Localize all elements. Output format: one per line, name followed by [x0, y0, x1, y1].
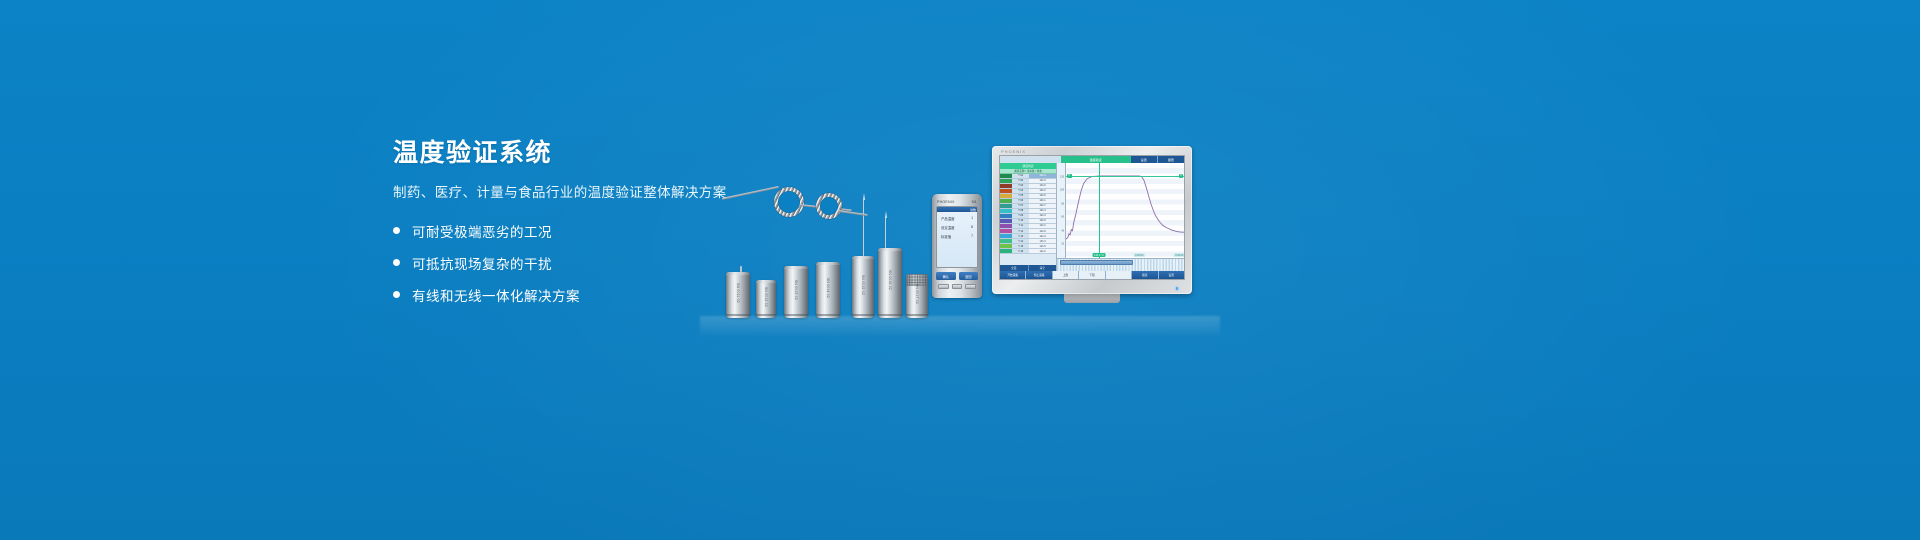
handheld-model: M1: [972, 200, 977, 204]
cursor-line[interactable]: [1099, 163, 1100, 258]
channel-value: 121.3: [1029, 179, 1056, 183]
channel-color-swatch: [1000, 234, 1012, 238]
channel-color-swatch: [1000, 194, 1012, 198]
channel-value: 121.3: [1029, 239, 1056, 243]
channel-color-swatch: [1000, 219, 1012, 223]
channel-row[interactable]: T 16121.2: [1000, 249, 1056, 254]
channel-rows[interactable]: T 01121.4T 02121.3T 03121.6T 04121.2T 05…: [1000, 174, 1056, 266]
handheld-screen-title: 读数: [970, 208, 976, 212]
lower-limit-button[interactable]: 下限: [1079, 271, 1105, 279]
channel-name: T 06: [1012, 199, 1029, 203]
tab-settings[interactable]: 设置: [1131, 156, 1157, 163]
data-logger: SN 0016 02: [878, 248, 902, 318]
handheld-softkeys: 确认 返回: [936, 272, 978, 280]
data-logger: SN 0017 02: [906, 274, 928, 318]
monitor-brand: PHOENIX: [1001, 149, 1026, 154]
time-marker-tag[interactable]: 0:25:00: [1133, 253, 1145, 257]
channel-name: T 03: [1012, 184, 1029, 188]
logger-label: SN 0017 02: [915, 284, 919, 304]
logger-label: SN 0015 02: [861, 275, 865, 295]
hero-banner: 温度验证系统 制药、医疗、计量与食品行业的温度验证整体解决方案 可耐受极端恶劣的…: [0, 0, 1920, 540]
handheld-reader[interactable]: PHOENIX M1 读数 产品温度 1 设定温度 8 标准值 7: [932, 194, 982, 298]
channel-name: T 07: [1012, 204, 1029, 208]
bullet-dot-icon: [393, 259, 400, 266]
reading-value: 8: [971, 225, 973, 230]
app-body: 通道列表 通道名称 / 当前值 / 状态 T 01121.4T 02121.3T…: [1000, 163, 1184, 271]
data-logger: SN 0013 02: [784, 266, 808, 318]
channel-value: 121.2: [1029, 249, 1056, 253]
probe-cable: [722, 186, 779, 200]
data-logger: SN 0012 02: [756, 280, 776, 318]
channel-value: 121.6: [1029, 229, 1056, 233]
channel-value: 121.3: [1029, 214, 1056, 218]
channel-name: T 11: [1012, 224, 1029, 228]
channel-color-swatch: [1000, 209, 1012, 213]
cable-coil: [816, 193, 842, 219]
channel-name: T 01: [1012, 174, 1029, 178]
timeline-handle[interactable]: [1060, 260, 1134, 265]
time-marker-tag[interactable]: 0:50:00: [1174, 253, 1184, 257]
report-button[interactable]: 报表: [1132, 271, 1158, 279]
titlebar-spacer: [1000, 156, 1061, 163]
channel-value: 121.6: [1029, 184, 1056, 188]
power-led-icon: [1176, 287, 1178, 289]
channel-panel: 通道列表 通道名称 / 当前值 / 状态 T 01121.4T 02121.3T…: [1000, 163, 1057, 271]
channel-value: 121.5: [1029, 219, 1056, 223]
feature-text: 有线和无线一体化解决方案: [412, 285, 580, 305]
handheld-back-button[interactable]: 返回: [959, 272, 979, 280]
handheld-keypad[interactable]: [936, 284, 978, 289]
monitor-toolbar: 开始采集 停止采集 上限 下限 报表 设置: [1000, 271, 1184, 279]
logger-label: SN 0013 02: [794, 280, 798, 300]
y-axis-tick: 80: [1061, 202, 1064, 205]
channel-name: T 02: [1012, 179, 1029, 183]
logger-label: SN 0012 02: [764, 288, 768, 308]
bullet-dot-icon: [393, 227, 400, 234]
bullet-dot-icon: [393, 291, 400, 298]
channel-color-swatch: [1000, 244, 1012, 248]
handheld-confirm-button[interactable]: 确认: [936, 272, 956, 280]
monitor-screen: 温度验证 设置 报表 通道列表 通道名称 / 当前值 / 状态 T 01121.…: [999, 155, 1185, 280]
feature-text: 可抵抗现场复杂的干扰: [412, 253, 552, 273]
feature-text: 可耐受极端恶劣的工况: [412, 221, 552, 241]
handheld-reading-row: 产品温度 1: [937, 216, 977, 221]
logger-label: SN 0016 02: [888, 270, 892, 290]
y-axis: 20406080100120: [1057, 163, 1066, 258]
app-title: 温度验证: [1061, 156, 1131, 163]
settings-button[interactable]: 设置: [1159, 271, 1184, 279]
cursor-value-tag[interactable]: 121.4 °C: [1093, 253, 1106, 257]
y-axis-tick: 120: [1060, 175, 1064, 178]
reading-label: 设定温度: [941, 225, 955, 230]
handheld-screen: 读数 产品温度 1 设定温度 8 标准值 7: [936, 206, 978, 268]
channel-value: 121.5: [1029, 194, 1056, 198]
channel-value: 121.4: [1029, 209, 1056, 213]
limit-tag-left[interactable]: H: [1067, 174, 1072, 178]
channel-name: T 10: [1012, 219, 1029, 223]
series-line: [1066, 176, 1184, 239]
channel-value: 121.2: [1029, 189, 1056, 193]
product-photo-group: SN 0011 02 SN 0012 02 SN 0013 02 SN 0014…: [700, 108, 1220, 318]
channel-value: 121.4: [1029, 174, 1056, 178]
reading-value: 1: [971, 216, 973, 221]
channel-color-swatch: [1000, 224, 1012, 228]
channel-color-swatch: [1000, 174, 1012, 178]
channel-name: T 14: [1012, 239, 1029, 243]
channel-color-swatch: [1000, 239, 1012, 243]
logger-label: SN 0014 02: [826, 278, 830, 298]
channel-value: 121.1: [1029, 199, 1056, 203]
channel-color-swatch: [1000, 249, 1012, 253]
channel-name: T 13: [1012, 234, 1029, 238]
data-logger: SN 0015 02: [852, 256, 874, 318]
channel-color-swatch: [1000, 214, 1012, 218]
timeline-scrollbar[interactable]: [1057, 258, 1184, 271]
keypad-key[interactable]: [965, 284, 976, 289]
handheld-reading-row: 设定温度 8: [937, 225, 977, 230]
handheld-brand: PHOENIX: [937, 200, 955, 204]
channel-value: 121.4: [1029, 234, 1056, 238]
channel-value: 121.2: [1029, 224, 1056, 228]
toolbar-spacer: [1106, 271, 1132, 279]
channel-color-swatch: [1000, 199, 1012, 203]
channel-value: 121.7: [1029, 204, 1056, 208]
y-axis-tick: 100: [1060, 189, 1064, 192]
channel-name: T 09: [1012, 214, 1029, 218]
reading-label: 产品温度: [941, 216, 955, 221]
channel-name: T 04: [1012, 189, 1029, 193]
channel-color-swatch: [1000, 204, 1012, 208]
reading-value: 7: [971, 234, 973, 239]
keypad-key[interactable]: [938, 284, 949, 289]
start-capture-button[interactable]: 开始采集: [1000, 271, 1026, 279]
cable-coil: [774, 187, 804, 217]
reading-label: 标准值: [941, 234, 951, 239]
channel-color-swatch: [1000, 189, 1012, 193]
channel-color-swatch: [1000, 179, 1012, 183]
limit-tag-right[interactable]: H: [1179, 174, 1184, 178]
stop-capture-button[interactable]: 停止采集: [1026, 271, 1052, 279]
upper-limit-button[interactable]: 上限: [1053, 271, 1079, 279]
limit-line: [1066, 176, 1184, 177]
handheld-screen-titlebar: 读数: [937, 207, 977, 212]
chart-plot-area: 20406080100120 HH121.4 °C0:25:000:50:00: [1057, 163, 1184, 258]
channel-color-swatch: [1000, 229, 1012, 233]
chart-panel: 20406080100120 HH121.4 °C0:25:000:50:00: [1057, 163, 1184, 271]
validation-monitor: PHOENIX 温度验证 设置 报表 通道列表 通道名称 /: [992, 146, 1192, 294]
data-logger: SN 0011 02: [726, 272, 750, 318]
channel-name: T 16: [1012, 249, 1029, 253]
chart-canvas[interactable]: HH121.4 °C0:25:000:50:00: [1066, 163, 1184, 258]
logger-label: SN 0011 02: [736, 283, 740, 303]
channel-name: T 08: [1012, 209, 1029, 213]
tab-report[interactable]: 报表: [1157, 156, 1184, 163]
handheld-reading-row: 标准值 7: [937, 234, 977, 239]
app-titlebar: 温度验证 设置 报表: [1000, 156, 1184, 163]
channel-color-swatch: [1000, 184, 1012, 188]
channel-name: T 15: [1012, 244, 1029, 248]
y-axis-tick: 60: [1061, 216, 1064, 219]
monitor-bezel: PHOENIX 温度验证 设置 报表 通道列表 通道名称 /: [992, 146, 1192, 294]
y-axis-tick: 20: [1061, 243, 1064, 246]
channel-name: T 05: [1012, 194, 1029, 198]
data-logger-group: SN 0011 02 SN 0012 02 SN 0013 02 SN 0014…: [700, 108, 960, 318]
y-axis-tick: 40: [1061, 229, 1064, 232]
channel-name: T 12: [1012, 229, 1029, 233]
data-logger: SN 0014 02: [816, 262, 840, 318]
channel-value: 121.5: [1029, 244, 1056, 248]
monitor-stand: [1064, 294, 1120, 303]
handheld-brand-strip: PHOENIX M1: [936, 198, 978, 206]
keypad-key[interactable]: [952, 284, 963, 289]
temperature-curve: [1066, 163, 1184, 258]
